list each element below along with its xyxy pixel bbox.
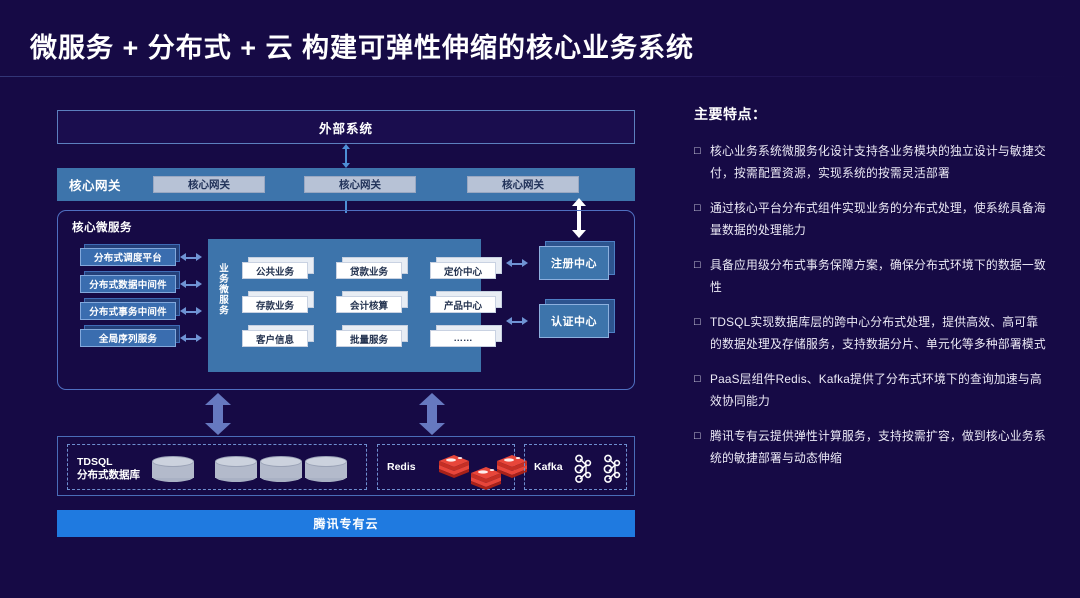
kafka-label: Kafka xyxy=(534,461,563,474)
service-box-7[interactable]: 客户信息 xyxy=(242,330,308,347)
service-box-1[interactable]: 公共业务 xyxy=(242,262,308,279)
feature-text: PaaS层组件Redis、Kafka提供了分布式环境下的查询加速与高效协同能力 xyxy=(710,368,1050,412)
feature-item: □ 具备应用级分布式事务保障方案，确保分布式环境下的数据一致性 xyxy=(694,254,1050,298)
service-box-4[interactable]: 存款业务 xyxy=(242,296,308,313)
feature-text: 核心业务系统微服务化设计支持各业务模块的独立设计与敏捷交付，按需配置资源，实现系… xyxy=(710,140,1050,184)
business-microservice-label: 业务微服务 xyxy=(214,263,228,316)
middleware-box-1[interactable]: 分布式调度平台 xyxy=(80,248,176,266)
middleware-box-4[interactable]: 全局序列服务 xyxy=(80,329,176,347)
kafka-logo-icon-2 xyxy=(600,454,626,484)
service-box-5[interactable]: 会计核算 xyxy=(336,296,402,313)
bullet-square-icon: □ xyxy=(694,140,710,184)
slide-root: 微服务 + 分布式 + 云 构建可弹性伸缩的核心业务系统 外部系统 核心网关 核… xyxy=(0,0,1080,598)
database-cylinder-icon-2 xyxy=(215,456,257,482)
bullet-square-icon: □ xyxy=(694,368,710,412)
service-label-1: 公共业务 xyxy=(242,262,308,279)
service-label-5: 会计核算 xyxy=(336,296,402,313)
double-arrow-icon-4 xyxy=(180,334,202,343)
database-cylinder-icon-3 xyxy=(260,456,302,482)
core-gateway-title: 核心网关 xyxy=(69,175,147,194)
core-to-data-arrow-icon-1 xyxy=(205,393,231,435)
core-to-data-arrow-icon-2 xyxy=(419,393,445,435)
gateway-chip-3: 核心网关 xyxy=(467,176,579,193)
feature-item: □ 通过核心平台分布式组件实现业务的分布式处理，使系统具备海量数据的处理能力 xyxy=(694,197,1050,241)
double-arrow-icon-3 xyxy=(180,307,202,316)
tencent-cloud-bar: 腾讯专有云 xyxy=(57,510,635,537)
service-box-6[interactable]: 产品中心 xyxy=(430,296,496,313)
bullet-square-icon: □ xyxy=(694,254,710,298)
middleware-label-2: 分布式数据中间件 xyxy=(80,275,176,293)
core-gateway-bar: 核心网关 核心网关 核心网关 核心网关 xyxy=(57,168,635,201)
feature-item: □ 腾讯专有云提供弹性计算服务，支持按需扩容，做到核心业务系统的敏捷部署与动态伸… xyxy=(694,425,1050,469)
auth-center-label: 认证中心 xyxy=(539,304,609,338)
feature-list-title: 主要特点： xyxy=(694,104,1050,124)
double-arrow-icon-2 xyxy=(180,280,202,289)
service-label-3: 定价中心 xyxy=(430,262,496,279)
bullet-square-icon: □ xyxy=(694,425,710,469)
gateway-chip-1: 核心网关 xyxy=(153,176,265,193)
service-label-8: 批量服务 xyxy=(336,330,402,347)
bullet-square-icon: □ xyxy=(694,197,710,241)
tdsql-label: TDSQL 分布式数据库 xyxy=(77,456,140,482)
middleware-label-3: 分布式事务中间件 xyxy=(80,302,176,320)
registry-center-label: 注册中心 xyxy=(539,246,609,280)
business-microservice-block: 业务微服务 公共业务 贷款业务 定价中心 存款业务 会计核算 产品中心 客户信息… xyxy=(208,239,481,372)
middleware-box-3[interactable]: 分布式事务中间件 xyxy=(80,302,176,320)
service-box-9[interactable]: …… xyxy=(430,330,496,347)
registry-center-box[interactable]: 注册中心 xyxy=(539,246,609,280)
feature-text: TDSQL实现数据库层的跨中心分布式处理，提供高效、高可靠的数据处理及存储服务，… xyxy=(710,311,1050,355)
kafka-cell: Kafka xyxy=(524,444,627,490)
service-label-4: 存款业务 xyxy=(242,296,308,313)
kafka-logo-icon-1 xyxy=(571,454,597,484)
service-label-7: 客户信息 xyxy=(242,330,308,347)
tdsql-label-line1: TDSQL xyxy=(77,456,140,469)
database-cylinder-icon-4 xyxy=(305,456,347,482)
service-box-3[interactable]: 定价中心 xyxy=(430,262,496,279)
middleware-label-4: 全局序列服务 xyxy=(80,329,176,347)
gateway-chip-2: 核心网关 xyxy=(304,176,416,193)
database-cylinder-icon-1 xyxy=(152,456,194,482)
service-label-6: 产品中心 xyxy=(430,296,496,313)
external-gateway-connector xyxy=(340,144,352,168)
service-box-2[interactable]: 贷款业务 xyxy=(336,262,402,279)
page-title: 微服务 + 分布式 + 云 构建可弹性伸缩的核心业务系统 xyxy=(30,26,694,65)
feature-item: □ PaaS层组件Redis、Kafka提供了分布式环境下的查询加速与高效协同能… xyxy=(694,368,1050,412)
bullet-square-icon: □ xyxy=(694,311,710,355)
redis-label: Redis xyxy=(387,461,416,474)
middleware-label-1: 分布式调度平台 xyxy=(80,248,176,266)
service-box-8[interactable]: 批量服务 xyxy=(336,330,402,347)
auth-center-box[interactable]: 认证中心 xyxy=(539,304,609,338)
feature-text: 通过核心平台分布式组件实现业务的分布式处理，使系统具备海量数据的处理能力 xyxy=(710,197,1050,241)
feature-text: 具备应用级分布式事务保障方案，确保分布式环境下的数据一致性 xyxy=(710,254,1050,298)
double-arrow-icon-6 xyxy=(506,317,528,326)
service-label-9: …… xyxy=(430,330,496,347)
redis-cell: Redis xyxy=(377,444,515,490)
middleware-box-2[interactable]: 分布式数据中间件 xyxy=(80,275,176,293)
external-system-box: 外部系统 xyxy=(57,110,635,144)
service-label-2: 贷款业务 xyxy=(336,262,402,279)
core-microservice-title: 核心微服务 xyxy=(72,219,132,235)
tdsql-label-line2: 分布式数据库 xyxy=(77,469,140,482)
core-microservice-panel: 核心微服务 分布式调度平台 分布式数据中间件 分布式事务中间件 全局序列服务 xyxy=(57,210,635,390)
tdsql-cell: TDSQL 分布式数据库 xyxy=(67,444,367,490)
redis-cube-icon-1 xyxy=(438,453,470,479)
architecture-diagram: 外部系统 核心网关 核心网关 核心网关 核心网关 核心微服务 分布式调度平台 分… xyxy=(57,110,635,537)
double-arrow-icon-5 xyxy=(506,259,528,268)
feature-item: □ 核心业务系统微服务化设计支持各业务模块的独立设计与敏捷交付，按需配置资源，实… xyxy=(694,140,1050,184)
title-divider xyxy=(0,76,1080,77)
feature-item: □ TDSQL实现数据库层的跨中心分布式处理，提供高效、高可靠的数据处理及存储服… xyxy=(694,311,1050,355)
feature-list: 主要特点： □ 核心业务系统微服务化设计支持各业务模块的独立设计与敏捷交付，按需… xyxy=(694,104,1050,482)
feature-text: 腾讯专有云提供弹性计算服务，支持按需扩容，做到核心业务系统的敏捷部署与动态伸缩 xyxy=(710,425,1050,469)
data-tier-panel: TDSQL 分布式数据库 Redis xyxy=(57,436,635,496)
double-arrow-icon-1 xyxy=(180,253,202,262)
